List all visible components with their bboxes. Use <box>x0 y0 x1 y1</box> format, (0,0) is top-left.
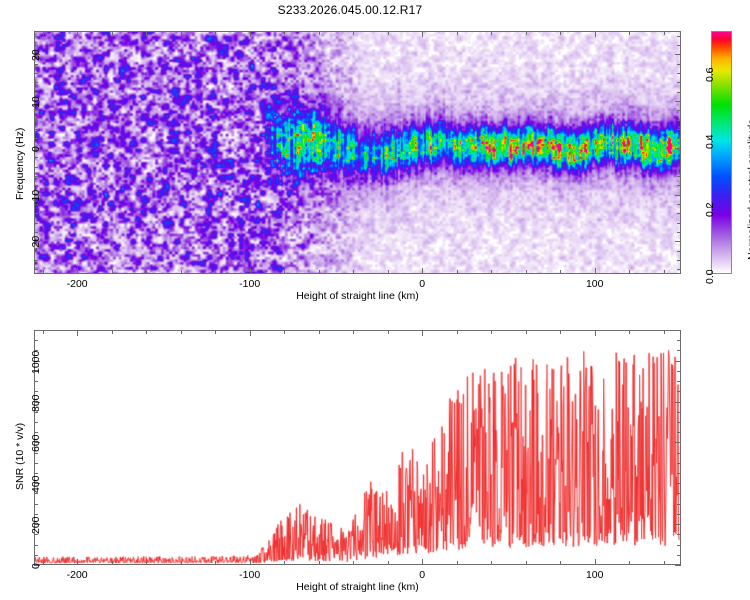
axis-tick <box>284 330 285 334</box>
x-tick-label: 0 <box>397 278 447 290</box>
axis-tick <box>677 545 681 546</box>
axis-tick <box>675 241 681 242</box>
axis-tick <box>319 31 320 35</box>
colorbar-tick-label: 0.6 <box>704 67 716 82</box>
axis-tick <box>677 157 681 158</box>
axis-tick <box>181 31 182 35</box>
axis-tick <box>34 120 38 121</box>
axis-tick <box>422 330 423 336</box>
axis-tick <box>422 559 423 565</box>
axis-tick <box>677 412 681 413</box>
axis-tick <box>34 45 38 46</box>
x-tick-label: 0 <box>397 569 447 581</box>
axis-tick <box>34 453 38 454</box>
axis-tick <box>675 402 681 403</box>
snr-panel <box>34 330 681 565</box>
axis-tick <box>181 561 182 565</box>
axis-tick <box>677 340 681 341</box>
axis-tick <box>34 223 38 224</box>
axis-tick <box>677 504 681 505</box>
axis-tick <box>146 31 147 35</box>
axis-tick <box>677 391 681 392</box>
axis-tick <box>677 213 681 214</box>
snr-y-axis-label: SNR (10 * v/v) <box>14 423 26 490</box>
axis-tick <box>34 129 38 130</box>
axis-tick <box>34 82 38 83</box>
axis-tick <box>677 493 681 494</box>
axis-tick <box>677 73 681 74</box>
axis-tick <box>353 31 354 35</box>
axis-tick <box>77 330 78 336</box>
axis-tick <box>526 330 527 334</box>
axis-tick <box>677 64 681 65</box>
axis-tick <box>677 514 681 515</box>
axis-tick <box>664 561 665 565</box>
axis-tick <box>491 330 492 334</box>
axis-tick <box>250 268 251 274</box>
y-tick-label: 20 <box>30 50 42 62</box>
axis-tick <box>353 561 354 565</box>
axis-tick <box>675 101 681 102</box>
x-tick-label: -100 <box>225 278 275 290</box>
axis-tick <box>112 561 113 565</box>
axis-tick <box>677 185 681 186</box>
y-tick-label: 600 <box>30 435 42 453</box>
axis-tick <box>319 561 320 565</box>
axis-tick <box>675 565 681 566</box>
axis-tick <box>675 361 681 362</box>
axis-tick <box>677 82 681 83</box>
spectrogram-panel <box>34 31 681 274</box>
y-tick-label: 400 <box>30 476 42 494</box>
axis-tick <box>34 64 38 65</box>
axis-tick <box>34 534 38 535</box>
axis-tick <box>34 504 38 505</box>
axis-tick <box>457 330 458 334</box>
spectrogram-x-axis-label: Height of straight line (km) <box>0 290 715 302</box>
x-tick-label: -100 <box>225 569 275 581</box>
axis-tick <box>215 561 216 565</box>
snr-x-axis-label: Height of straight line (km) <box>0 581 715 593</box>
axis-tick <box>34 157 38 158</box>
y-tick-label: 0 <box>30 146 42 152</box>
axis-tick <box>250 559 251 565</box>
axis-tick <box>34 391 38 392</box>
axis-tick <box>677 555 681 556</box>
axis-tick <box>34 330 38 331</box>
figure-root: S233.2026.045.00.12.R17 Frequency (Hz) H… <box>0 0 750 600</box>
axis-tick <box>146 270 147 274</box>
axis-tick <box>388 561 389 565</box>
axis-tick <box>422 31 423 37</box>
axis-tick <box>77 31 78 37</box>
axis-tick <box>388 330 389 334</box>
x-tick-label: -200 <box>52 278 102 290</box>
axis-tick <box>675 442 681 443</box>
axis-tick <box>181 270 182 274</box>
axis-tick <box>675 148 681 149</box>
axis-tick <box>677 350 681 351</box>
axis-tick <box>491 270 492 274</box>
axis-tick <box>34 138 38 139</box>
axis-tick <box>677 92 681 93</box>
axis-tick <box>526 31 527 35</box>
axis-tick <box>677 138 681 139</box>
axis-tick <box>353 330 354 334</box>
axis-tick <box>675 483 681 484</box>
y-tick-label: 1000 <box>30 350 42 373</box>
colorbar-label: Normalized spectral amplitude <box>746 119 750 260</box>
axis-tick <box>595 268 596 274</box>
axis-tick <box>250 31 251 37</box>
axis-tick <box>677 110 681 111</box>
axis-tick <box>677 371 681 372</box>
axis-tick <box>491 561 492 565</box>
axis-tick <box>677 260 681 261</box>
spectrogram-y-axis-label: Frequency (Hz) <box>14 128 26 200</box>
axis-tick <box>526 561 527 565</box>
page-title: S233.2026.045.00.12.R17 <box>0 3 700 17</box>
axis-tick <box>677 120 681 121</box>
axis-tick <box>77 559 78 565</box>
axis-tick <box>675 54 681 55</box>
axis-tick <box>457 31 458 35</box>
colorbar-tick-label: 0.2 <box>704 202 716 217</box>
axis-tick <box>677 381 681 382</box>
axis-tick <box>319 330 320 334</box>
axis-tick <box>677 422 681 423</box>
axis-tick <box>677 223 681 224</box>
axis-tick <box>34 555 38 556</box>
axis-tick <box>34 167 38 168</box>
axis-tick <box>34 251 38 252</box>
axis-tick <box>34 340 38 341</box>
axis-tick <box>560 561 561 565</box>
axis-tick <box>284 561 285 565</box>
axis-tick <box>34 422 38 423</box>
axis-tick <box>353 270 354 274</box>
axis-tick <box>677 269 681 270</box>
axis-tick <box>34 185 38 186</box>
y-tick-label: 800 <box>30 394 42 412</box>
spectrogram-canvas <box>35 32 680 273</box>
axis-tick <box>34 412 38 413</box>
colorbar-tick-label: 0.4 <box>704 134 716 149</box>
axis-tick <box>595 330 596 336</box>
axis-tick <box>215 31 216 35</box>
axis-tick <box>34 381 38 382</box>
axis-tick <box>677 330 681 331</box>
axis-tick <box>677 36 681 37</box>
y-tick-label: -20 <box>30 236 42 251</box>
axis-tick <box>422 268 423 274</box>
axis-tick <box>595 31 596 37</box>
axis-tick <box>629 31 630 35</box>
axis-tick <box>675 195 681 196</box>
axis-tick <box>677 45 681 46</box>
axis-tick <box>34 432 38 433</box>
axis-tick <box>34 514 38 515</box>
axis-tick <box>34 260 38 261</box>
axis-tick <box>677 463 681 464</box>
axis-tick <box>526 270 527 274</box>
y-tick-label: 10 <box>30 96 42 108</box>
axis-tick <box>595 559 596 565</box>
y-tick-label: 200 <box>30 517 42 535</box>
axis-tick <box>34 493 38 494</box>
axis-tick <box>629 330 630 334</box>
x-tick-label: 100 <box>570 569 620 581</box>
axis-tick <box>43 31 44 35</box>
axis-tick <box>215 330 216 334</box>
axis-tick <box>677 453 681 454</box>
axis-tick <box>34 36 38 37</box>
axis-tick <box>664 270 665 274</box>
axis-tick <box>34 176 38 177</box>
axis-tick <box>560 270 561 274</box>
axis-tick <box>77 268 78 274</box>
axis-tick <box>34 463 38 464</box>
axis-tick <box>677 251 681 252</box>
axis-tick <box>284 31 285 35</box>
axis-tick <box>677 534 681 535</box>
axis-tick <box>677 432 681 433</box>
axis-tick <box>677 473 681 474</box>
axis-tick <box>146 561 147 565</box>
axis-tick <box>146 330 147 334</box>
axis-tick <box>388 31 389 35</box>
axis-tick <box>34 232 38 233</box>
axis-tick <box>112 270 113 274</box>
axis-tick <box>34 73 38 74</box>
axis-tick <box>629 270 630 274</box>
axis-tick <box>675 524 681 525</box>
axis-tick <box>664 31 665 35</box>
axis-tick <box>677 176 681 177</box>
axis-tick <box>677 167 681 168</box>
axis-tick <box>34 545 38 546</box>
axis-tick <box>284 270 285 274</box>
y-tick-label: -10 <box>30 189 42 204</box>
axis-tick <box>319 270 320 274</box>
axis-tick <box>34 473 38 474</box>
x-tick-label: -200 <box>52 569 102 581</box>
axis-tick <box>43 330 44 334</box>
y-tick-label: 0 <box>30 563 42 569</box>
axis-tick <box>664 330 665 334</box>
axis-tick <box>112 330 113 334</box>
axis-tick <box>112 31 113 35</box>
axis-tick <box>677 204 681 205</box>
axis-tick <box>181 330 182 334</box>
axis-tick <box>677 129 681 130</box>
axis-tick <box>677 232 681 233</box>
axis-tick <box>43 270 44 274</box>
axis-tick <box>34 110 38 111</box>
axis-tick <box>560 330 561 334</box>
snr-canvas <box>35 331 680 564</box>
axis-tick <box>215 270 216 274</box>
axis-tick <box>457 561 458 565</box>
x-tick-label: 100 <box>570 278 620 290</box>
axis-tick <box>250 330 251 336</box>
axis-tick <box>34 269 38 270</box>
axis-tick <box>491 31 492 35</box>
colorbar-tick-label: 0.0 <box>704 269 716 284</box>
axis-tick <box>629 561 630 565</box>
axis-tick <box>560 31 561 35</box>
axis-tick <box>34 92 38 93</box>
axis-tick <box>34 213 38 214</box>
axis-tick <box>43 561 44 565</box>
axis-tick <box>457 270 458 274</box>
axis-tick <box>388 270 389 274</box>
